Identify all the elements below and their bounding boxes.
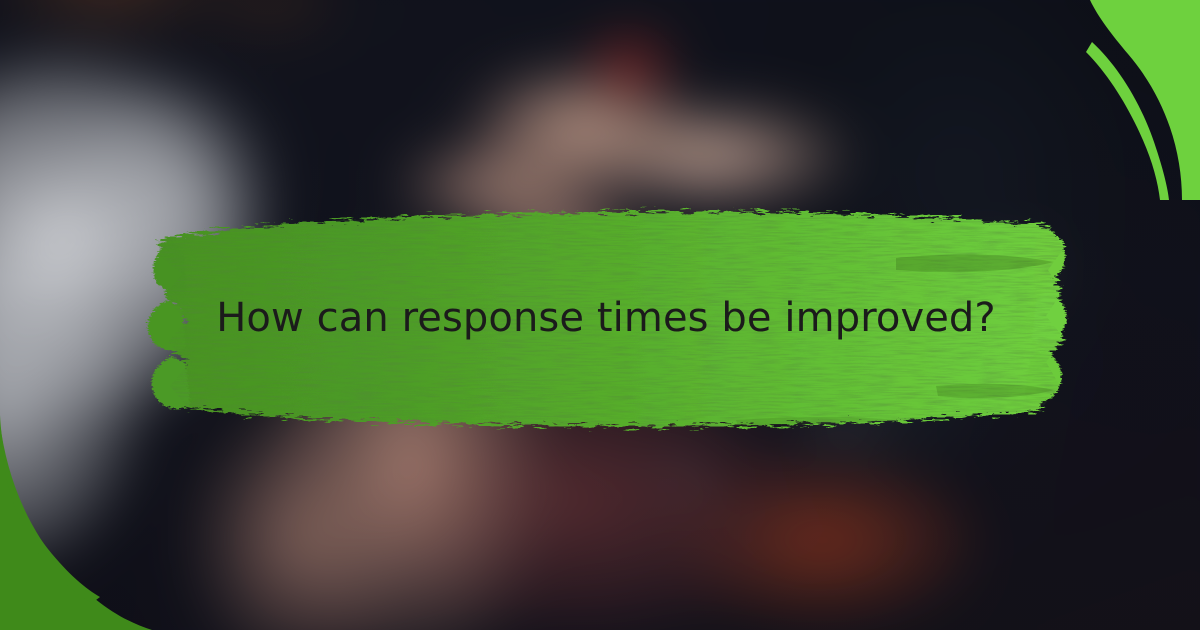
- headline-container: How can response times be improved?: [96, 196, 1106, 444]
- page-title: How can response times be improved?: [216, 295, 996, 341]
- question-card: How can response times be improved?: [0, 0, 1200, 630]
